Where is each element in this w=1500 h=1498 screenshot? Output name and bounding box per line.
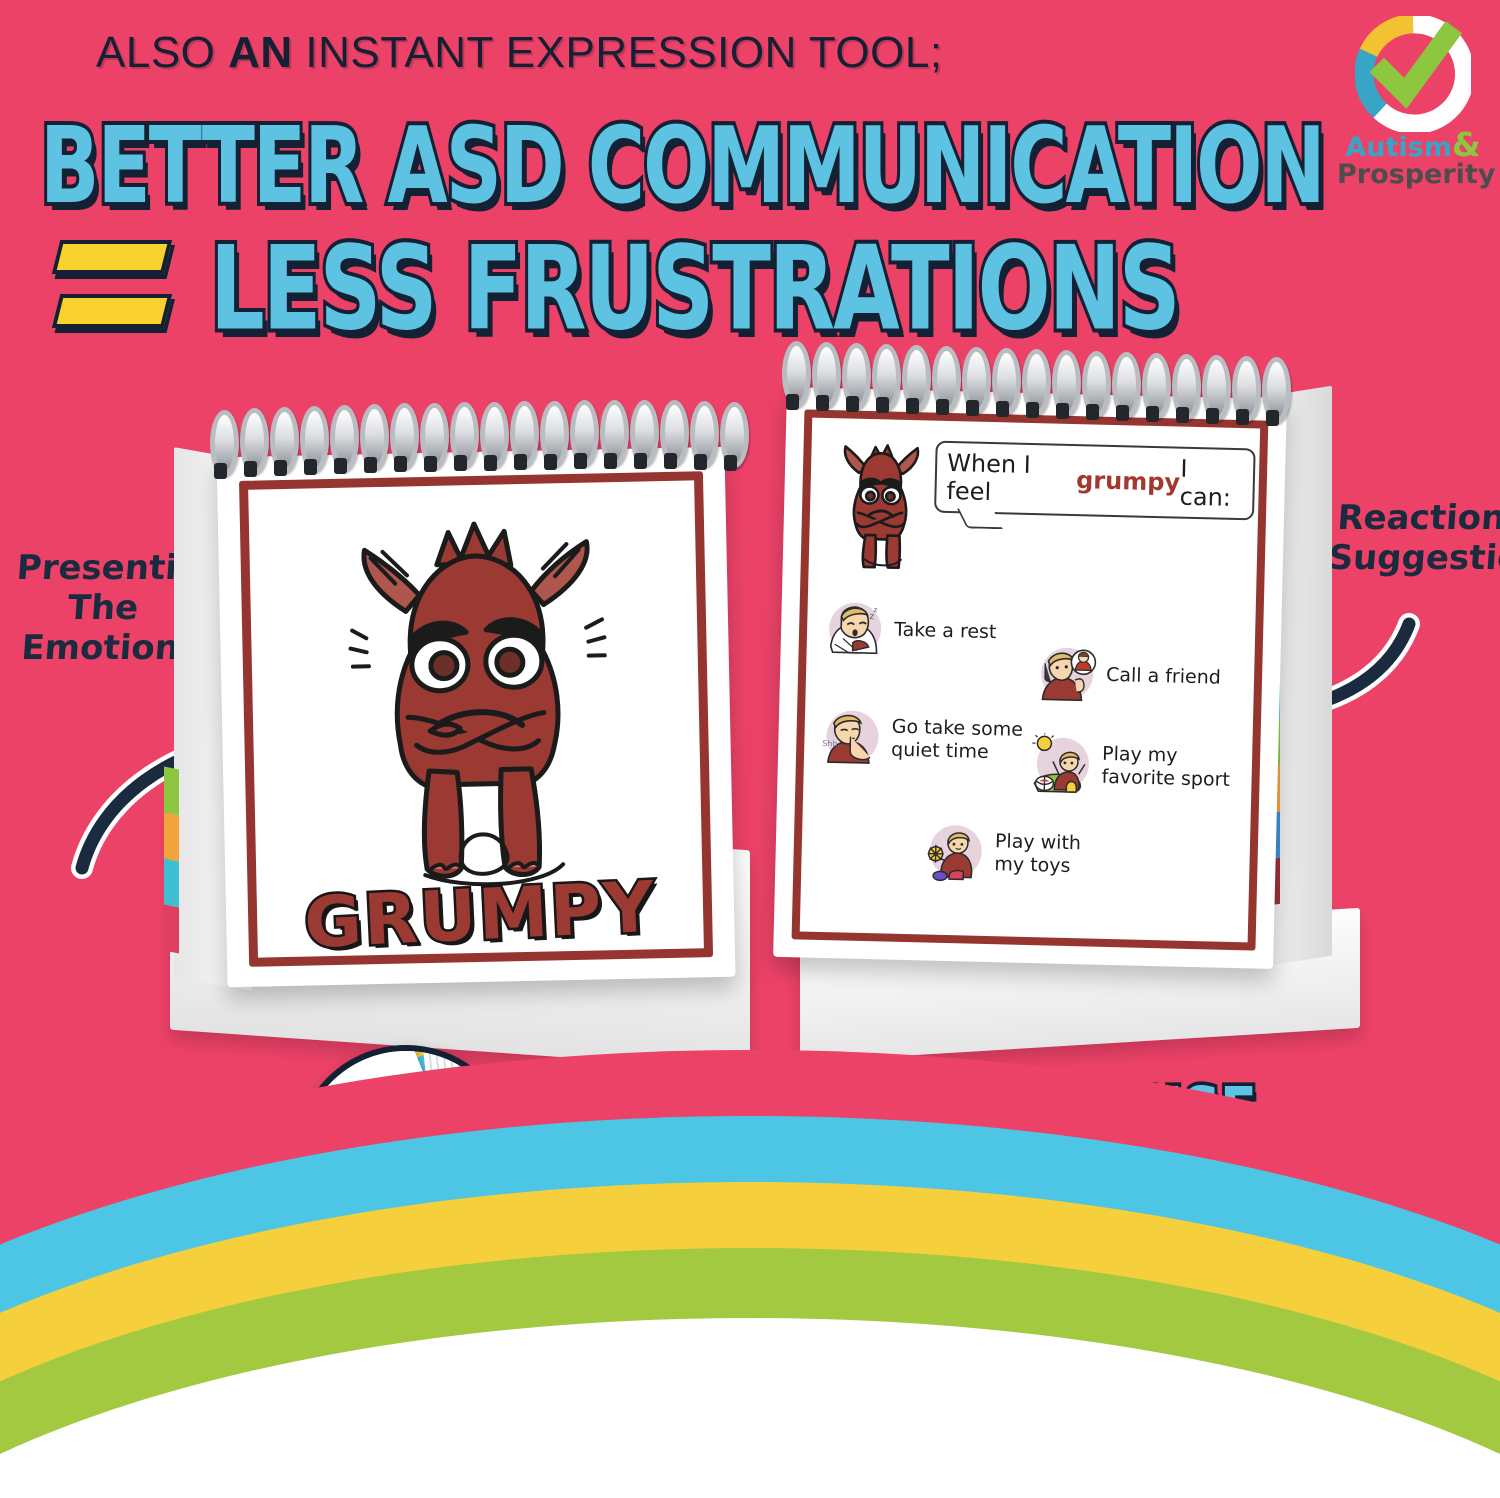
suggestion-play-with-toys[interactable]: Play with my toys — [923, 820, 1081, 886]
kicker-text: ALSO AN INSTANT EXPRESSION TOOL; — [96, 28, 943, 78]
suggestion-label: Take a rest — [894, 619, 997, 645]
headline-line-1: BETTER ASD COMMUNICATION — [40, 106, 1324, 228]
banner-text: Especially helpful when they're upset, e… — [0, 992, 1500, 1498]
equals-sign-icon — [56, 240, 168, 336]
logo-text-prosperity: Prosperity — [1337, 161, 1489, 188]
suggestion-call-a-friend[interactable]: Call a friend — [1034, 643, 1221, 710]
suggestion-quiet-time[interactable]: Shh.. Go take some quiet time — [820, 706, 1024, 773]
brand-logo: Autism& Prosperity — [1337, 16, 1489, 196]
headline-line-2: LESS FRUSTRATIONS — [210, 222, 1179, 357]
phone-call-icon — [1034, 643, 1097, 706]
banner-text-curve: Especially helpful when they're upset, e… — [0, 1050, 1500, 1498]
suggestion-label: Play my favorite sport — [1101, 743, 1230, 792]
prompt-highlight-word: grumpy — [1076, 466, 1181, 497]
grumpy-monster-illustration — [308, 499, 646, 896]
suggestion-label: Play with my toys — [994, 830, 1081, 878]
flipbook-left-color-tabs[interactable] — [164, 767, 179, 954]
kicker-part-2: INSTANT EXPRESSION TOOL; — [293, 28, 943, 77]
svg-text:z: z — [874, 606, 878, 614]
grumpy-monster-mini-icon — [831, 440, 930, 572]
ball-play-icon — [1030, 733, 1093, 796]
toy-play-icon — [923, 820, 986, 883]
flipbook-right[interactable]: When I feel grumpy I can: — [760, 345, 1360, 1045]
prompt-speech-bubble: When I feel grumpy I can: — [934, 441, 1256, 521]
logo-ring-icon — [1355, 16, 1471, 132]
suggestion-label: Call a friend — [1106, 664, 1221, 690]
flipbook-right-card: When I feel grumpy I can: — [773, 387, 1287, 969]
sleeping-child-icon: z z — [822, 598, 885, 661]
suggestion-take-a-rest[interactable]: z z Take a rest — [822, 598, 997, 664]
kicker-part-1: ALSO — [96, 28, 228, 77]
kicker-bold-word: AN — [228, 28, 293, 77]
prompt-suffix: I can: — [1179, 455, 1243, 513]
flipbook-left-spiral-binding — [210, 400, 746, 466]
suggestion-label: Go take some quiet time — [891, 715, 1023, 765]
shh-sound-label: Shh.. — [822, 739, 843, 748]
bottom-curved-banner: Especially helpful when they're upset, e… — [0, 1050, 1500, 1498]
suggestion-favorite-sport[interactable]: Play my favorite sport — [1030, 733, 1231, 800]
product-marketing-image: ALSO AN INSTANT EXPRESSION TOOL; BETTER … — [0, 0, 1500, 1498]
flipbook-left[interactable]: GRUMPY — [160, 400, 760, 1060]
flipbook-right-spiral-binding — [782, 341, 1298, 407]
shush-child-icon: Shh.. — [820, 706, 883, 769]
prompt-prefix: When I feel — [946, 449, 1077, 508]
flipbook-left-card: GRUMPY — [217, 447, 736, 988]
